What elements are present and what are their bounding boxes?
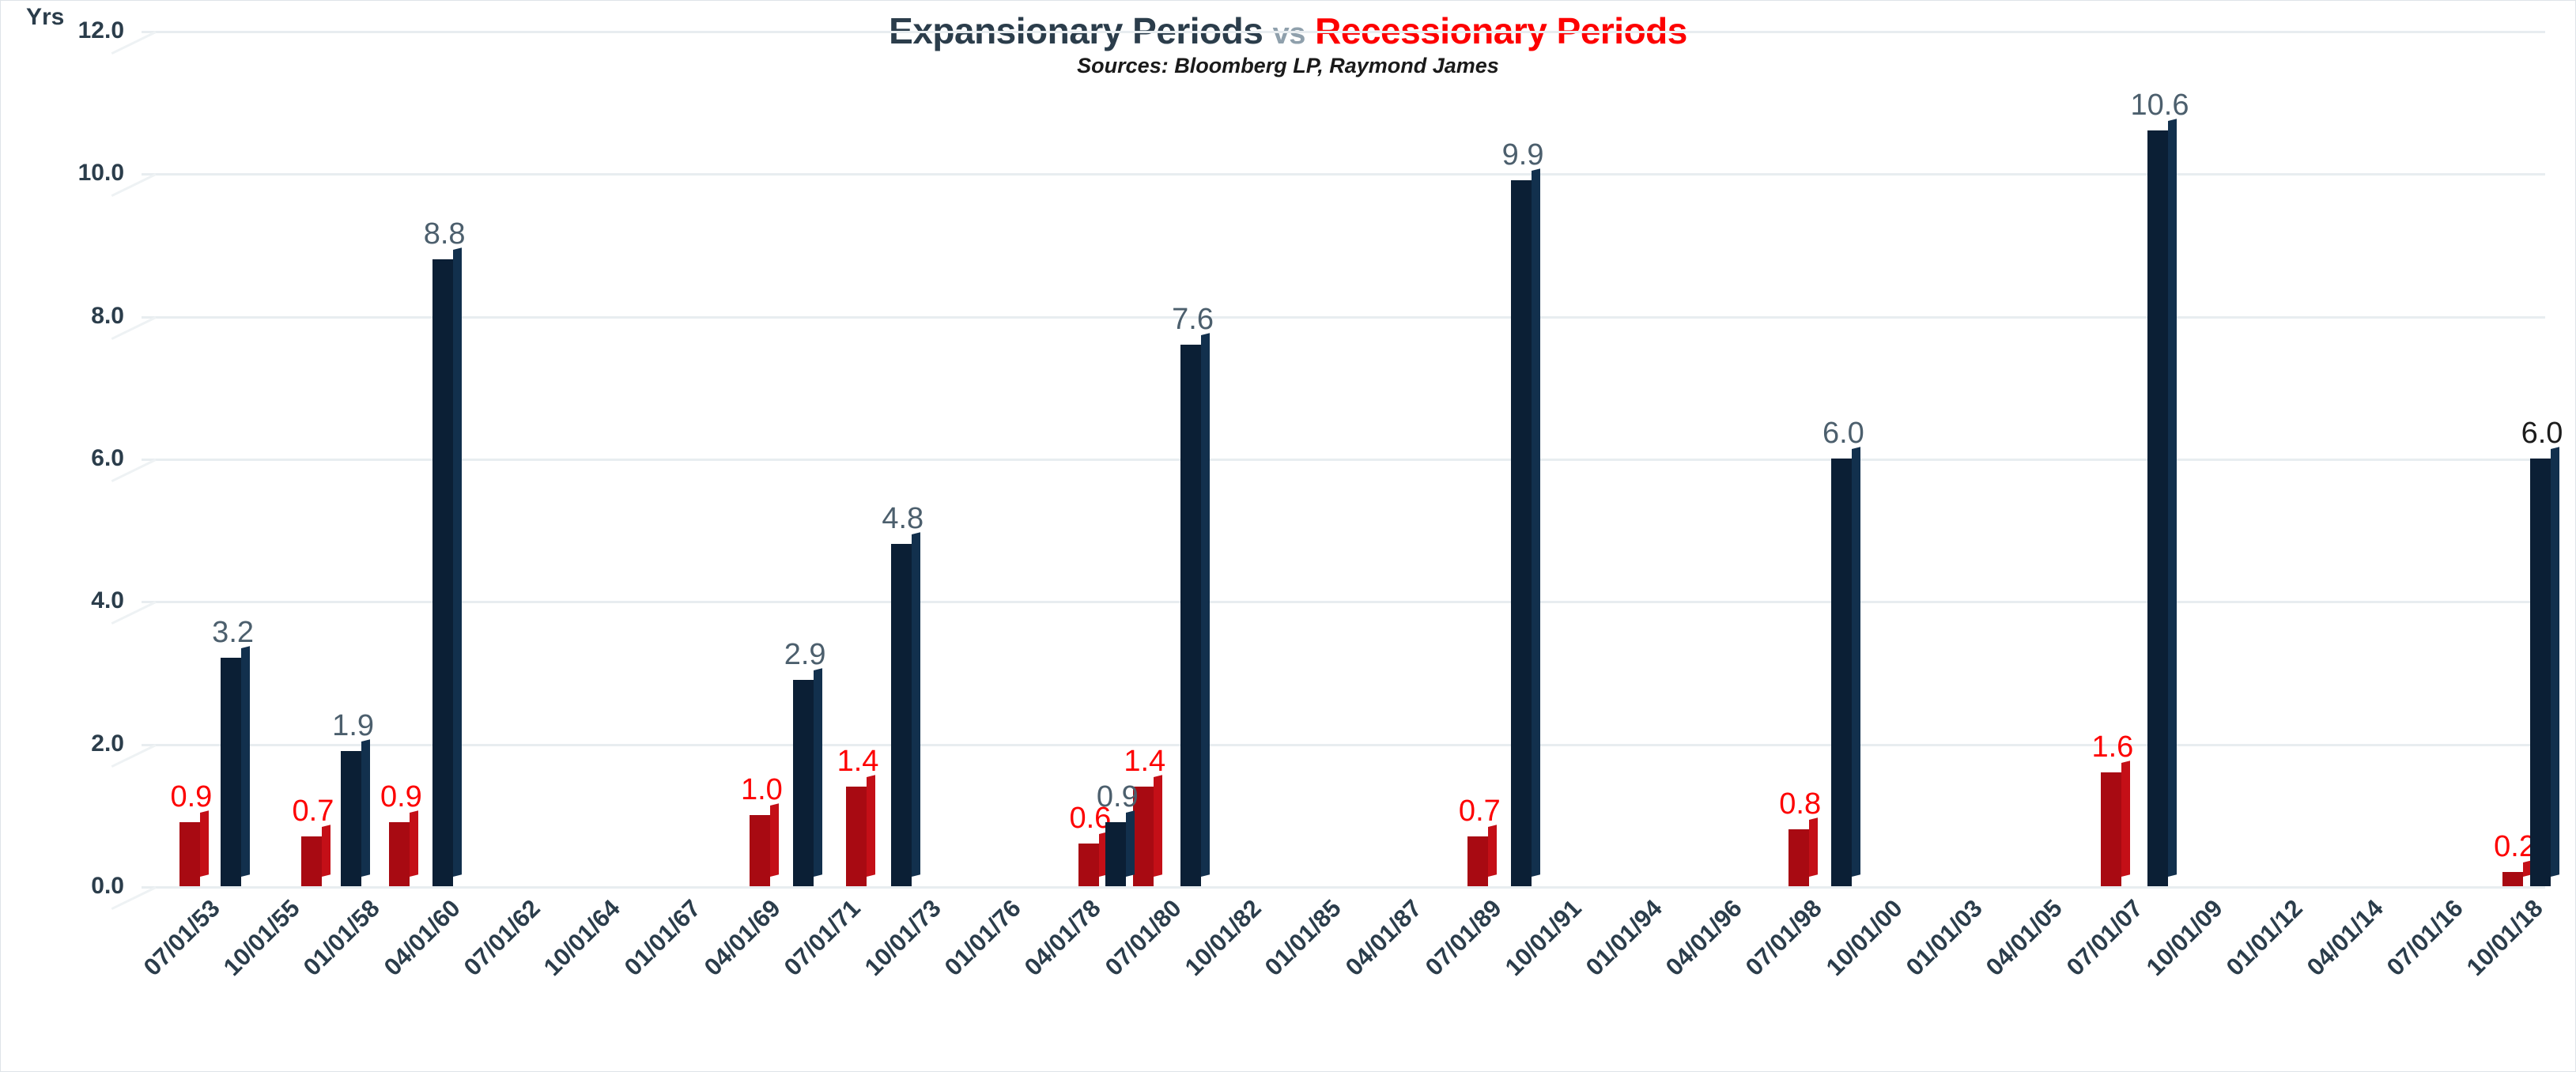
bar-value-label: 0.8 xyxy=(1779,787,1821,821)
y-axis-tick-label: 0.0 xyxy=(91,873,124,900)
bar-value-label: 2.9 xyxy=(784,638,826,672)
chart-canvas: Yrs Expansionary Periods vs Recessionary… xyxy=(0,0,2576,1072)
bar-value-label: 1.9 xyxy=(332,709,374,743)
bar-side-face xyxy=(200,810,209,877)
expansion-bar[interactable]: 2.9 xyxy=(793,680,814,886)
y-axis-tick-label: 2.0 xyxy=(91,730,124,757)
bar-value-label: 0.7 xyxy=(1459,795,1501,829)
bar-front-face xyxy=(2502,872,2523,886)
bar-value-label: 10.6 xyxy=(2131,89,2189,123)
bar-front-face xyxy=(750,815,770,886)
bar-front-face xyxy=(389,822,410,886)
bar-front-face xyxy=(1788,829,1809,886)
bar-side-face xyxy=(241,647,250,877)
bar-side-face xyxy=(912,532,920,877)
bar-value-label: 9.9 xyxy=(1502,138,1544,172)
recession-bar[interactable]: 0.9 xyxy=(389,822,410,886)
bar-side-face xyxy=(2551,447,2559,877)
expansion-bar[interactable]: 10.6 xyxy=(2147,130,2168,886)
bar-side-face xyxy=(410,810,418,877)
bar-front-face xyxy=(793,680,814,886)
recession-bar[interactable]: 1.0 xyxy=(750,815,770,886)
bar-side-face xyxy=(867,775,875,877)
bar-side-face xyxy=(361,739,370,877)
bar-side-face xyxy=(2168,119,2177,877)
bar-side-face xyxy=(453,247,462,877)
bar-front-face xyxy=(846,787,867,886)
bar-side-face xyxy=(1532,169,1540,877)
bar-front-face xyxy=(341,751,361,886)
y-axis-tick-label: 8.0 xyxy=(91,303,124,330)
bar-value-label: 6.0 xyxy=(1822,417,1864,451)
bar-value-label: 4.8 xyxy=(882,502,924,536)
recession-bar[interactable]: 1.6 xyxy=(2101,772,2121,886)
bar-side-face xyxy=(1201,333,1210,877)
recession-bar[interactable]: 0.8 xyxy=(1788,829,1809,886)
bar-front-face xyxy=(2101,772,2121,886)
bar-front-face xyxy=(221,658,241,886)
bar-front-face xyxy=(301,836,322,886)
recession-bar[interactable]: 1.4 xyxy=(846,787,867,886)
bar-value-label: 0.7 xyxy=(293,795,334,829)
expansion-bar[interactable]: 7.6 xyxy=(1180,345,1201,886)
bar-side-face xyxy=(1852,447,1860,877)
bar-value-label: 8.8 xyxy=(424,217,466,251)
gridline: 0.0 xyxy=(142,886,2545,889)
expansion-bar[interactable]: 1.9 xyxy=(341,751,361,886)
expansion-bar[interactable]: 6.0 xyxy=(1831,459,1852,886)
bar-side-face xyxy=(1488,825,1497,877)
bar-front-face xyxy=(179,822,200,886)
bar-value-label: 3.2 xyxy=(212,616,254,650)
y-axis-tick-label: 4.0 xyxy=(91,587,124,614)
bar-side-face xyxy=(770,803,779,877)
bar-value-label: 0.9 xyxy=(380,780,422,814)
expansion-bar[interactable]: 6.0 xyxy=(2530,459,2551,886)
bar-side-face xyxy=(1154,775,1162,877)
bar-value-label: 0.9 xyxy=(170,780,212,814)
bar-front-face xyxy=(2530,459,2551,886)
x-axis-labels: 07/01/5310/01/5501/01/5804/01/6007/01/62… xyxy=(142,889,2545,1071)
expansion-bar[interactable]: 9.9 xyxy=(1511,180,1532,886)
expansion-bar[interactable]: 4.8 xyxy=(891,544,912,886)
bar-front-face xyxy=(432,259,453,886)
bar-value-label: 1.4 xyxy=(837,745,879,779)
y-axis-unit-label: Yrs xyxy=(26,4,64,31)
bar-side-face xyxy=(814,668,822,877)
bar-side-face xyxy=(1809,817,1818,877)
bar-value-label: 1.6 xyxy=(2091,730,2133,764)
bar-front-face xyxy=(1467,836,1488,886)
bar-value-label: 1.0 xyxy=(741,773,783,807)
expansion-bar[interactable]: 8.8 xyxy=(432,259,453,886)
bars-layer: 0.90.70.91.01.40.61.40.70.81.60.23.21.98… xyxy=(142,31,2545,886)
recession-bar[interactable]: 0.9 xyxy=(179,822,200,886)
bar-value-label: 6.0 xyxy=(2521,417,2563,451)
bar-front-face xyxy=(891,544,912,886)
y-axis-tick-label: 6.0 xyxy=(91,445,124,472)
bar-front-face xyxy=(1105,822,1126,886)
bar-front-face xyxy=(1511,180,1532,886)
y-axis-tick-label: 10.0 xyxy=(78,160,124,187)
plot-area: 12.010.08.06.04.02.00.0 0.90.70.91.01.40… xyxy=(142,31,2545,886)
bar-side-face xyxy=(1126,810,1135,877)
recession-bar[interactable]: 0.2 xyxy=(2502,872,2523,886)
bar-side-face xyxy=(322,825,330,877)
bar-front-face xyxy=(1078,844,1099,886)
bar-value-label: 7.6 xyxy=(1172,303,1214,337)
expansion-bar[interactable]: 3.2 xyxy=(221,658,241,886)
recession-bar[interactable]: 0.7 xyxy=(301,836,322,886)
bar-front-face xyxy=(2147,130,2168,886)
bar-front-face xyxy=(1831,459,1852,886)
bar-value-label: 0.9 xyxy=(1097,780,1139,814)
recession-bar[interactable]: 0.7 xyxy=(1467,836,1488,886)
y-axis-tick-label: 12.0 xyxy=(78,17,124,44)
expansion-bar[interactable]: 0.9 xyxy=(1105,822,1126,886)
bar-value-label: 1.4 xyxy=(1124,745,1165,779)
bar-side-face xyxy=(2121,761,2130,877)
recession-bar[interactable]: 0.6 xyxy=(1078,844,1099,886)
bar-front-face xyxy=(1180,345,1201,886)
